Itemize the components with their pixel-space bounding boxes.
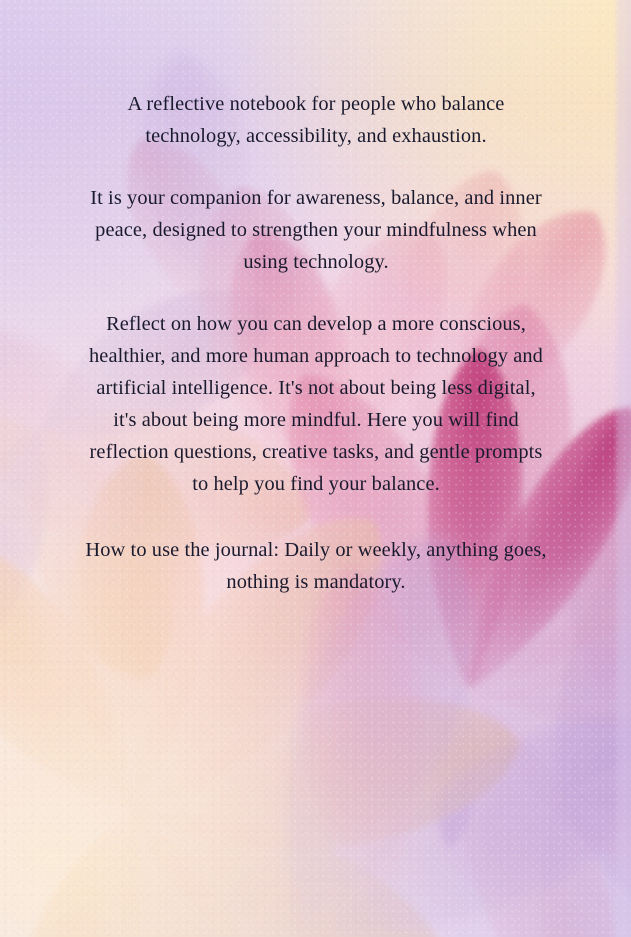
right-edge-seam [613,0,631,937]
paragraph-companion: It is your companion for awareness, bala… [84,182,548,278]
paragraph-reflect: Reflect on how you can develop a more co… [84,308,548,500]
intro-text-block: A reflective notebook for people who bal… [84,88,548,598]
paragraph-intro: A reflective notebook for people who bal… [84,88,548,152]
paragraph-how-to-use: How to use the journal: Daily or weekly,… [84,534,548,598]
notebook-intro-page: A reflective notebook for people who bal… [0,0,631,937]
